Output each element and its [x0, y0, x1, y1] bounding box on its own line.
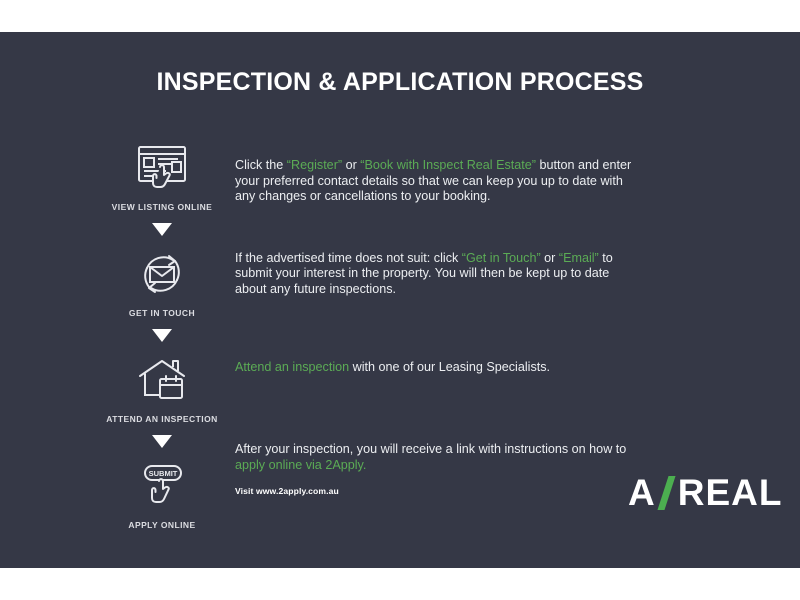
down-triangle-icon	[88, 212, 236, 246]
slide-page: INSPECTION & APPLICATION PROCESS VIEW LI…	[0, 0, 800, 600]
submit-label: SUBMIT	[149, 469, 178, 478]
step-label: APPLY ONLINE	[88, 520, 236, 530]
step-label: VIEW LISTING ONLINE	[88, 202, 236, 212]
house-calendar-icon	[88, 352, 236, 408]
highlighted-text: Attend an inspection	[235, 360, 349, 374]
highlighted-text: “Register”	[287, 158, 342, 172]
description-apply-online: After your inspection, you will receive …	[235, 442, 635, 473]
step-view-listing-online: VIEW LISTING ONLINE	[88, 140, 236, 212]
step-label: ATTEND AN INSPECTION	[88, 414, 236, 424]
brand-logo: A REAL	[628, 472, 782, 514]
steps-column: VIEW LISTING ONLINE GET IN TOUCH	[88, 140, 236, 530]
description-view-listing-online: Click the “Register” or “Book with Inspe…	[235, 158, 635, 205]
descriptions-column: Click the “Register” or “Book with Inspe…	[235, 140, 635, 496]
logo-text-left: A	[628, 472, 656, 514]
step-apply-online: SUBMIT APPLY ONLINE	[88, 458, 236, 530]
slash-mark-icon	[657, 474, 677, 512]
description-attend-an-inspection: Attend an inspection with one of our Lea…	[235, 360, 635, 376]
down-triangle-icon	[88, 424, 236, 458]
step-get-in-touch: GET IN TOUCH	[88, 246, 236, 318]
logo-text-right: REAL	[678, 472, 783, 514]
body-text: or	[342, 158, 360, 172]
highlighted-text: “Book with Inspect Real Estate”	[360, 158, 536, 172]
listing-page-click-icon	[88, 140, 236, 196]
body-text: If the advertised time does not suit: cl…	[235, 251, 462, 265]
body-text: or	[541, 251, 559, 265]
envelope-refresh-icon	[88, 246, 236, 302]
description-get-in-touch: If the advertised time does not suit: cl…	[235, 251, 635, 298]
highlighted-text: apply online via 2Apply.	[235, 458, 366, 472]
step-attend-an-inspection: ATTEND AN INSPECTION	[88, 352, 236, 424]
page-title: INSPECTION & APPLICATION PROCESS	[0, 68, 800, 97]
highlighted-text: “Get in Touch”	[462, 251, 541, 265]
highlighted-text: “Email”	[559, 251, 599, 265]
body-text: After your inspection, you will receive …	[235, 442, 626, 456]
down-triangle-icon	[88, 318, 236, 352]
step-label: GET IN TOUCH	[88, 308, 236, 318]
body-text: with one of our Leasing Specialists.	[349, 360, 550, 374]
body-text: Click the	[235, 158, 287, 172]
submit-button-click-icon: SUBMIT	[88, 458, 236, 514]
visit-url-note: Visit www.2apply.com.au	[235, 486, 635, 496]
